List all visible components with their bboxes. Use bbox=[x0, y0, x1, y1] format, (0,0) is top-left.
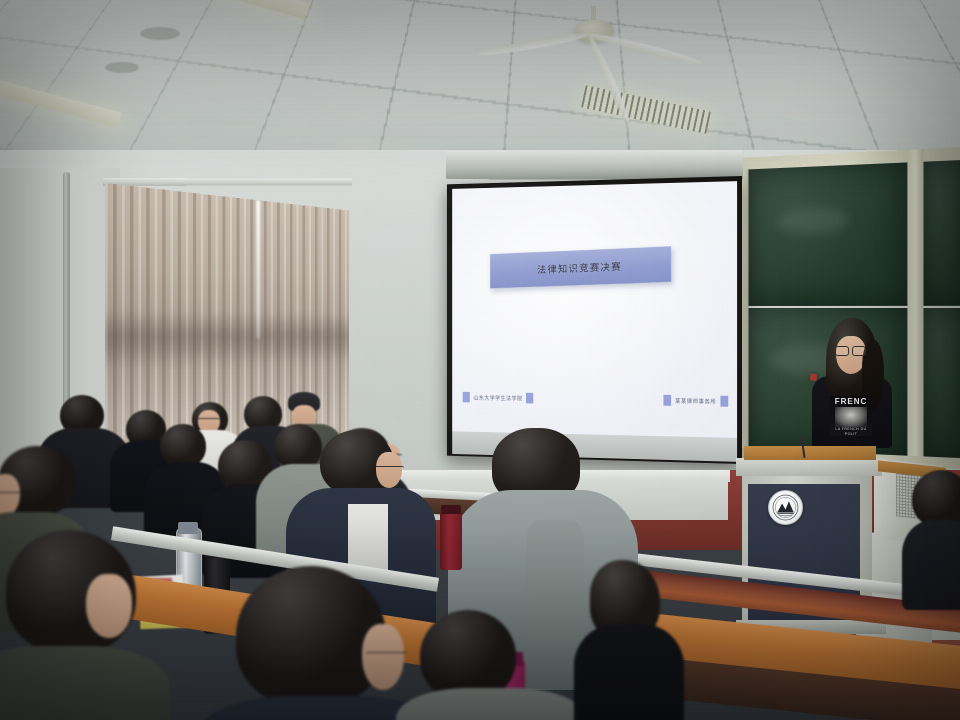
thermos-red bbox=[440, 510, 462, 570]
lectern-top-shelf bbox=[736, 458, 882, 476]
person-torso bbox=[0, 646, 170, 720]
eyeglasses-icon bbox=[366, 652, 406, 657]
curtain-light-gap bbox=[256, 200, 260, 338]
slide-footer-left-text: 山东大学学生法学院 bbox=[474, 394, 523, 402]
person-head bbox=[236, 566, 386, 706]
curtain-rail bbox=[103, 178, 352, 186]
sweatshirt-print-photo bbox=[835, 407, 867, 427]
lens-left bbox=[835, 346, 849, 356]
slide-footer-right-text: 某某律师事务所 bbox=[675, 397, 716, 406]
thermos-cap bbox=[441, 505, 461, 514]
eyeglasses-icon bbox=[372, 466, 404, 471]
square-bullet-icon bbox=[664, 395, 672, 406]
slide-title-banner: 法律知识竞赛决赛 bbox=[490, 246, 671, 288]
university-crest-icon bbox=[768, 490, 803, 525]
curtain-shadow-band bbox=[105, 309, 349, 369]
projection-screen: 法律知识竞赛决赛 山东大学学生法学院 某某律师事务所 bbox=[447, 176, 742, 464]
lens-right bbox=[852, 346, 866, 356]
chalkboard-frame-mid bbox=[907, 149, 923, 467]
photo-scene: 法律知识竞赛决赛 山东大学学生法学院 某某律师事务所 bbox=[0, 0, 960, 720]
eyeglasses-icon bbox=[835, 346, 866, 354]
square-bullet-icon bbox=[720, 396, 728, 407]
chalkboard-panel bbox=[749, 162, 908, 306]
slide-title-text: 法律知识竞赛决赛 bbox=[537, 258, 622, 276]
chalkboard-panel bbox=[924, 160, 960, 306]
bottle-cap bbox=[178, 522, 198, 534]
sweatshirt-print-word: FRENC bbox=[835, 397, 868, 406]
eyeglasses-icon bbox=[198, 418, 220, 423]
slide-footer-left: 山东大学学生法学院 bbox=[463, 392, 533, 404]
square-bullet-icon bbox=[526, 393, 533, 404]
person-face bbox=[86, 574, 132, 638]
suit-collar bbox=[526, 520, 584, 640]
lectern-wood-top bbox=[744, 446, 876, 460]
slide-footer-right: 某某律师事务所 bbox=[664, 395, 729, 407]
projector-screen-housing bbox=[446, 150, 743, 180]
person-face bbox=[362, 624, 404, 690]
square-bullet-icon bbox=[463, 392, 470, 403]
person-torso bbox=[396, 688, 586, 720]
eyeglasses-icon bbox=[0, 492, 32, 497]
chalk-smudge bbox=[778, 206, 849, 235]
person-torso bbox=[902, 520, 960, 610]
person-torso bbox=[574, 624, 684, 720]
slide-surface: 法律知识竞赛决赛 山东大学学生法学院 某某律师事务所 bbox=[452, 181, 737, 438]
